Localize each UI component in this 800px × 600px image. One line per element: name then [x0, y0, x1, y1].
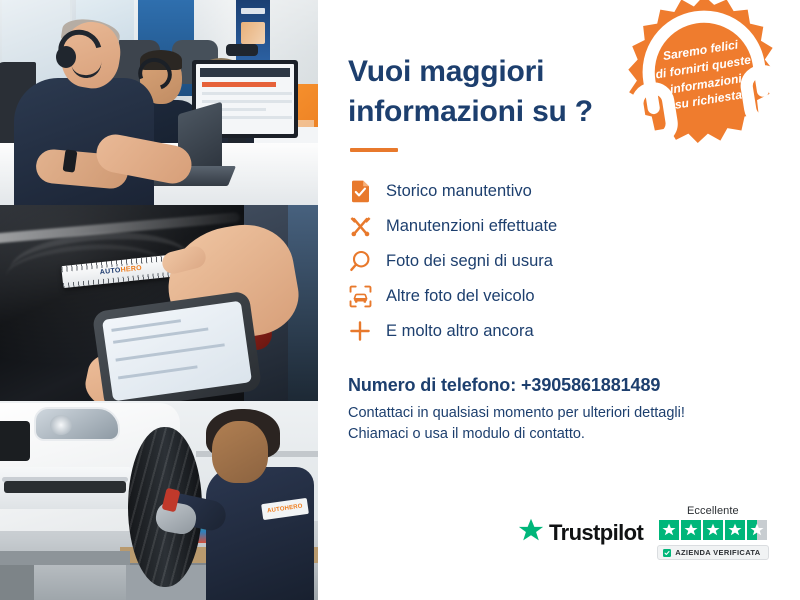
- verified-label: AZIENDA VERIFICATA: [675, 548, 760, 557]
- feature-label: Foto dei segni di usura: [386, 253, 553, 270]
- promo-banner: AUTOHERO: [0, 0, 800, 600]
- verified-business-badge: AZIENDA VERIFICATA: [657, 545, 768, 560]
- car-headlight: [34, 407, 120, 441]
- contact-note: Contattaci in qualsiasi momento per ulte…: [348, 403, 774, 445]
- photo-vehicle-damage-measurement-with-autohero-ruler: AUTOHERO: [0, 205, 318, 401]
- trustpilot-rating: Eccellente: [657, 505, 768, 560]
- tablet-screen: [102, 301, 252, 401]
- feature-label: E molto altro ancora: [386, 323, 534, 340]
- trustpilot-star-icon: [518, 518, 544, 548]
- star-filled-2: [681, 520, 701, 540]
- feature-label: Altre foto del veicolo: [386, 288, 535, 305]
- photo-column: AUTOHERO: [0, 0, 318, 600]
- feature-label: Manutenzioni effettuate: [386, 218, 557, 235]
- feature-item-altre-foto-veicolo: Altre foto del veicolo: [348, 279, 774, 314]
- star-filled-1: [659, 520, 679, 540]
- phone-line: Numero di telefono: +3905861881489: [348, 375, 774, 396]
- contact-block: Numero di telefono: +3905861881489 Conta…: [348, 375, 774, 445]
- vehicle-lift-post: [0, 565, 34, 600]
- mechanic-head: [212, 421, 268, 483]
- phone-label: Numero di telefono:: [348, 375, 516, 395]
- title-underline-divider: [350, 148, 398, 152]
- document-check-icon: [348, 179, 372, 203]
- bumper-air-vent: [4, 481, 126, 493]
- trustpilot-logo: Trustpilot: [518, 518, 643, 548]
- contact-note-line-1: Contattaci in qualsiasi momento per ulte…: [348, 403, 774, 424]
- ruler-brand-auto: AUTO: [100, 267, 122, 276]
- magnifier-icon: [348, 249, 372, 273]
- vehicle-lift-arm: [0, 551, 130, 565]
- feature-item-storico-manutentivo: Storico manutentivo: [348, 174, 774, 209]
- ruler-brand-hero: HERO: [120, 265, 142, 274]
- trustpilot-stars: [659, 520, 767, 540]
- plus-icon: [348, 319, 372, 343]
- tools-wrench-screwdriver-icon: [348, 214, 372, 238]
- feature-item-molto-altro: E molto altro ancora: [348, 314, 774, 349]
- car-scan-frame-icon: [348, 284, 372, 308]
- feature-label: Storico manutentivo: [386, 183, 532, 200]
- content-panel: Vuoi maggiori informazioni su ? Saremo f…: [318, 0, 800, 600]
- feature-item-foto-segni-usura: Foto dei segni di usura: [348, 244, 774, 279]
- star-half-5: [747, 520, 767, 540]
- phone-number[interactable]: +3905861881489: [521, 375, 660, 395]
- star-filled-3: [703, 520, 723, 540]
- page-title: Vuoi maggiori informazioni su ?: [348, 52, 628, 132]
- contact-note-line-2: Chiamaci o usa il modulo di contatto.: [348, 424, 774, 445]
- feature-list: Storico manutentivo Manutenzi: [348, 174, 774, 349]
- wall-poster: [236, 0, 270, 66]
- mechanic-body: [206, 467, 314, 600]
- star-filled-4: [725, 520, 745, 540]
- verified-check-icon: [663, 549, 671, 557]
- trustpilot-widget[interactable]: Trustpilot Eccellente: [518, 505, 769, 560]
- badge-content: Saremo felici di fornirti queste informa…: [610, 0, 798, 162]
- feature-item-manutenzioni-effettuate: Manutenzioni effettuate: [348, 209, 774, 244]
- trustpilot-rating-label: Eccellente: [687, 505, 739, 517]
- car-grille: [0, 421, 30, 461]
- service-promise-badge: Saremo felici di fornirti queste informa…: [621, 0, 787, 150]
- photo-mechanic-inspecting-white-car-on-lift: AUTOHERO: [0, 401, 318, 600]
- webcam: [226, 44, 258, 56]
- trustpilot-wordmark: Trustpilot: [549, 520, 643, 546]
- photo-call-centre-agents-with-headsets: [0, 0, 318, 205]
